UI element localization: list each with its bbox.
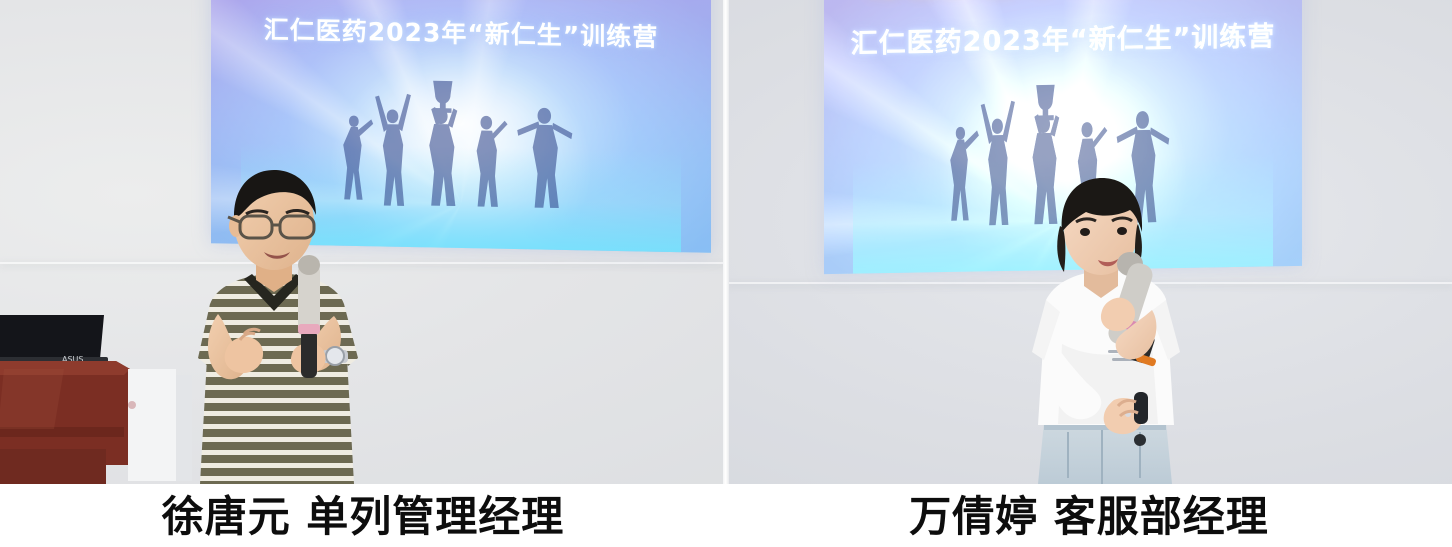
caption-band: 徐唐元 单列管理经理 万倩婷 客服部经理 (0, 484, 1452, 547)
screen-subtitle-right: 汇仁医药2023年“新仁生”训练营 (824, 14, 1302, 61)
photo-panel-left[interactable]: 青春正当时 逐梦新未来 汇仁医药2023年“新仁生”训练营 (0, 0, 726, 484)
female-speaker-figure (990, 174, 1220, 484)
laptop-lid (0, 315, 104, 359)
podium-and-laptop: ASUS (0, 309, 227, 484)
caption-right: 万倩婷 客服部经理 (726, 484, 1452, 547)
panel-divider (723, 0, 729, 484)
wrist-band (1134, 392, 1148, 424)
jeans (1038, 422, 1172, 484)
slide-canvas: 青春正当时 逐梦新未来 汇仁医药2023年“新仁生”训练营 (0, 0, 1452, 547)
caption-left: 徐唐元 单列管理经理 (0, 484, 726, 547)
photo-panel-right[interactable]: 青春正当时 逐梦新未来 汇仁医药2023年“新仁生”训练营 (726, 0, 1452, 484)
